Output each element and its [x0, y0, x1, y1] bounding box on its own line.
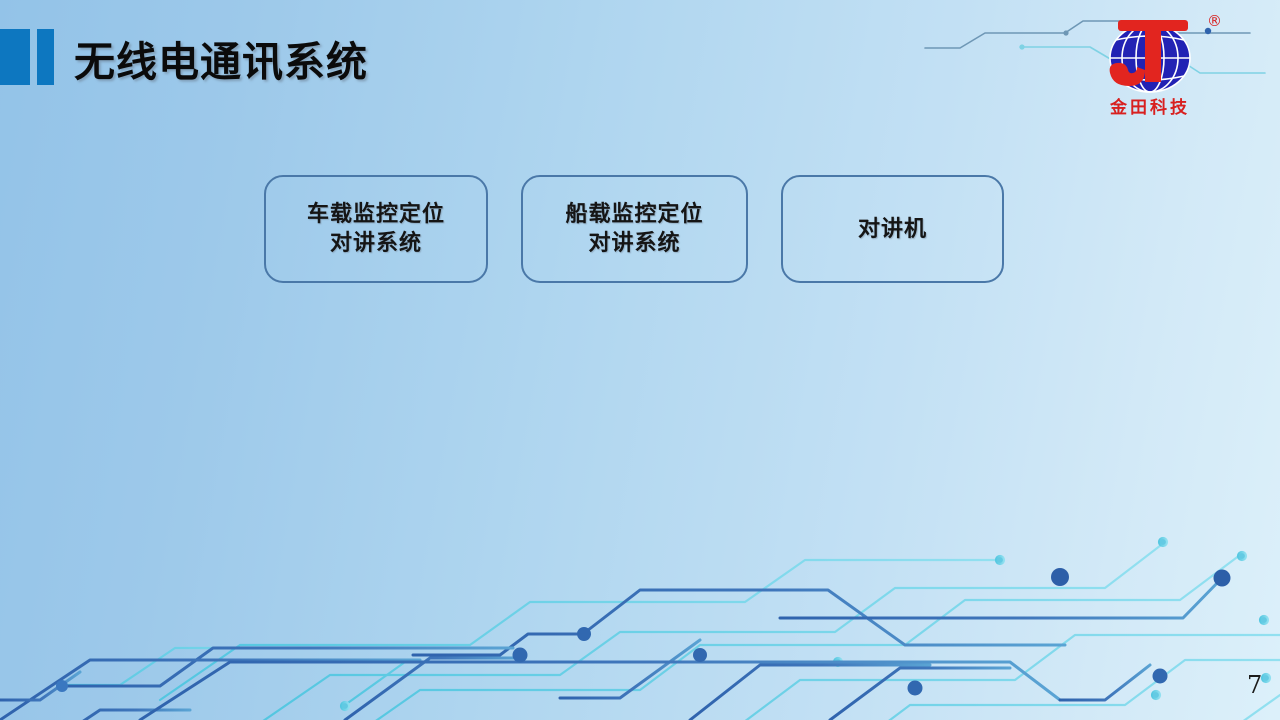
circuit-node-dots [56, 568, 1231, 696]
concept-box-vessel[interactable]: 船载监控定位 对讲系统 [521, 175, 748, 283]
circuit-decoration [0, 0, 1280, 720]
company-logo: ® 金田科技 [1092, 6, 1222, 124]
page-number: 7 [1247, 671, 1262, 699]
concept-box-vehicle[interactable]: 车载监控定位 对讲系统 [264, 175, 488, 283]
page-title: 无线电通讯系统 [74, 36, 368, 88]
accent-bar-wide [0, 29, 30, 85]
registered-trademark-icon: ® [1207, 14, 1222, 29]
concept-box-label: 船载监控定位 对讲系统 [565, 200, 703, 258]
concept-box-row: 车载监控定位 对讲系统 船载监控定位 对讲系统 对讲机 [264, 175, 1004, 283]
circuit-dark-lines [0, 578, 1222, 720]
globe-j-icon [1092, 6, 1222, 102]
accent-bar-gap [30, 29, 37, 85]
concept-box-label: 车载监控定位 对讲系统 [307, 200, 445, 258]
concept-box-label: 对讲机 [858, 215, 927, 244]
concept-box-walkie-talkie[interactable]: 对讲机 [781, 175, 1004, 283]
title-accent-bars [0, 29, 54, 85]
slide-canvas: 无线电通讯系统 ® 金田科技 车载监控定位 对 [0, 0, 1280, 720]
circuit-light-lines [58, 538, 1280, 720]
accent-bar-narrow [37, 29, 54, 85]
company-name: 金田科技 [1092, 98, 1208, 118]
